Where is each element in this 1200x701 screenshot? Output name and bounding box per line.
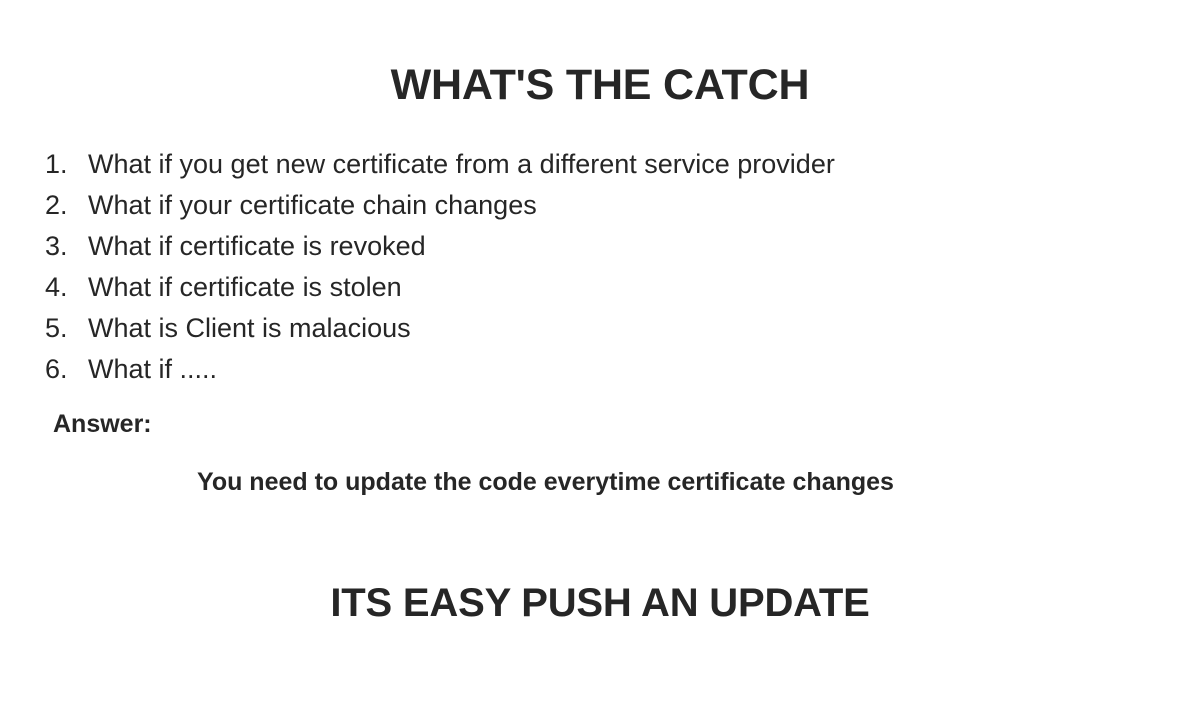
- slide-canvas: WHAT'S THE CATCH 1. What if you get new …: [0, 0, 1200, 701]
- list-item: 1. What if you get new certificate from …: [45, 144, 1145, 185]
- list-item-label: What if you get new certificate from a d…: [88, 144, 835, 185]
- list-item: 5. What is Client is malacious: [45, 308, 1145, 349]
- slide-footline: ITS EASY PUSH AN UPDATE: [0, 583, 1200, 623]
- list-item-label: What if certificate is revoked: [88, 226, 426, 267]
- list-item-label: What if your certificate chain changes: [88, 185, 537, 226]
- slide-title: WHAT'S THE CATCH: [0, 64, 1200, 107]
- list-item: 3. What if certificate is revoked: [45, 226, 1145, 267]
- list-item-number: 5.: [45, 308, 88, 349]
- answer-label: Answer:: [53, 407, 152, 441]
- catch-question-list: 1. What if you get new certificate from …: [45, 144, 1145, 390]
- list-item: 4. What if certificate is stolen: [45, 267, 1145, 308]
- answer-text: You need to update the code everytime ce…: [197, 465, 894, 499]
- list-item-number: 1.: [45, 144, 88, 185]
- list-item-label: What if .....: [88, 349, 217, 390]
- list-item: 2. What if your certificate chain change…: [45, 185, 1145, 226]
- list-item: 6. What if .....: [45, 349, 1145, 390]
- list-item-label: What is Client is malacious: [88, 308, 411, 349]
- list-item-number: 4.: [45, 267, 88, 308]
- list-item-number: 3.: [45, 226, 88, 267]
- list-item-number: 2.: [45, 185, 88, 226]
- list-item-number: 6.: [45, 349, 88, 390]
- list-item-label: What if certificate is stolen: [88, 267, 402, 308]
